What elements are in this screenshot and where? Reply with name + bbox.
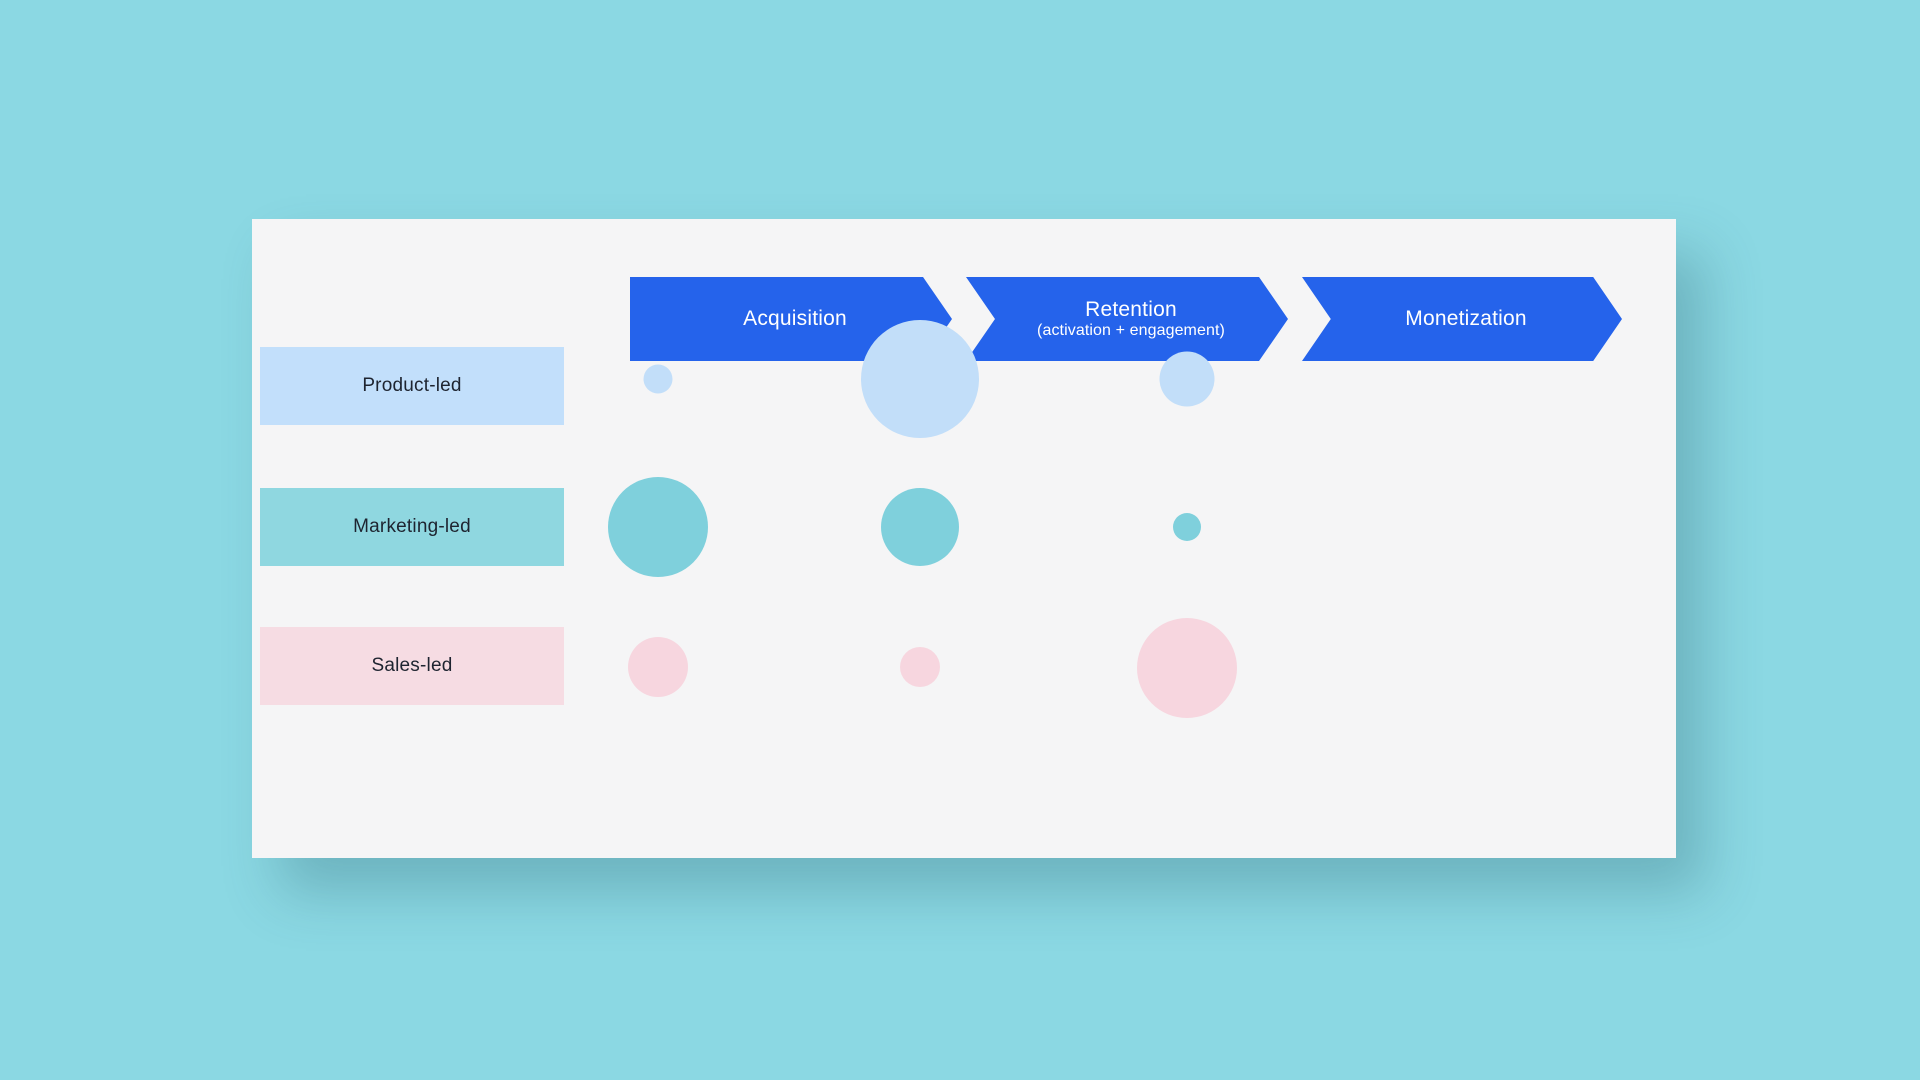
bubble-product-led-retention[interactable]	[861, 320, 979, 438]
funnel-stage-acquisition-labels: Acquisition	[735, 307, 847, 331]
bubble-marketing-led-acquisition[interactable]	[608, 477, 708, 577]
diagram-card: Acquisition Retention (activation + enga…	[252, 219, 1676, 858]
row-label-sales-led-text: Sales-led	[371, 655, 452, 677]
funnel-stage-retention-subtitle: (activation + engagement)	[1037, 322, 1225, 340]
bubble-product-led-acquisition[interactable]	[644, 365, 673, 394]
funnel-stage-monetization-labels: Monetization	[1397, 307, 1526, 331]
funnel-stage-monetization[interactable]: Monetization	[1302, 277, 1622, 361]
bubble-sales-led-acquisition[interactable]	[628, 637, 688, 697]
bubble-marketing-led-retention[interactable]	[881, 488, 959, 566]
row-label-marketing-led-text: Marketing-led	[353, 516, 471, 538]
bubble-sales-led-monetization[interactable]	[1137, 618, 1237, 718]
slide-canvas: Acquisition Retention (activation + enga…	[0, 0, 1920, 1080]
funnel-stage-acquisition-title: Acquisition	[743, 307, 847, 331]
bubble-product-led-monetization[interactable]	[1160, 352, 1215, 407]
row-label-sales-led[interactable]: Sales-led	[260, 627, 564, 705]
funnel-stage-band: Acquisition Retention (activation + enga…	[630, 277, 1622, 361]
funnel-stage-retention-labels: Retention (activation + engagement)	[1029, 298, 1225, 339]
row-label-product-led-text: Product-led	[362, 375, 461, 397]
row-label-marketing-led[interactable]: Marketing-led	[260, 488, 564, 566]
row-label-product-led[interactable]: Product-led	[260, 347, 564, 425]
funnel-stage-monetization-title: Monetization	[1405, 307, 1526, 331]
funnel-stage-retention[interactable]: Retention (activation + engagement)	[966, 277, 1288, 361]
bubble-sales-led-retention[interactable]	[900, 647, 940, 687]
bubble-marketing-led-monetization[interactable]	[1173, 513, 1201, 541]
funnel-stage-retention-title: Retention	[1037, 298, 1225, 322]
